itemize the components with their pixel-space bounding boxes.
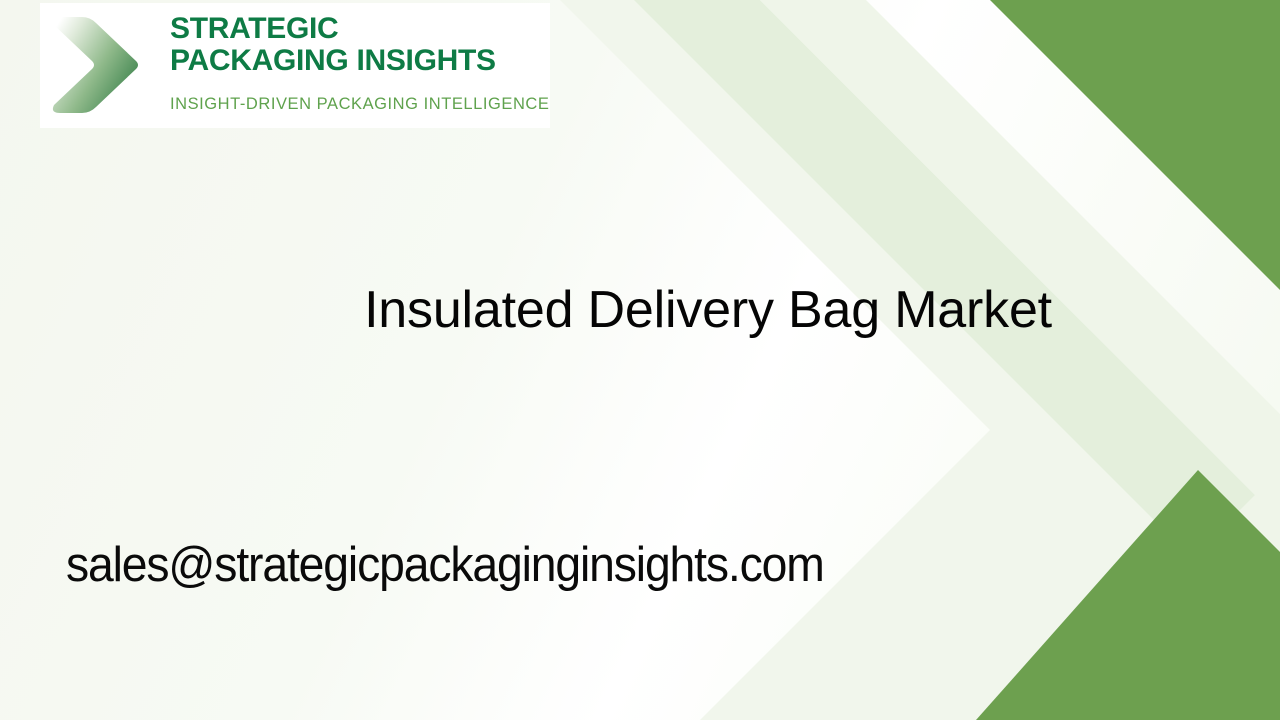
presentation-slide: STRATEGIC PACKAGING INSIGHTS INSIGHT-DRI… [0,0,1280,720]
chevron-arrow-icon-svg [40,9,152,121]
logo-tagline: INSIGHT-DRIVEN PACKAGING INTELLIGENCE [170,95,549,114]
slide-title: Insulated Delivery Bag Market [355,285,1061,336]
chevron-arrow-icon [40,9,152,121]
company-logo: STRATEGIC PACKAGING INSIGHTS INSIGHT-DRI… [40,3,550,128]
logo-name-line-1: STRATEGIC [170,13,550,45]
logo-name-line-2: PACKAGING INSIGHTS [170,45,550,77]
logo-wordmark: STRATEGIC PACKAGING INSIGHTS [170,13,550,77]
contact-email[interactable]: sales@strategicpackaginginsights.com [66,534,824,596]
